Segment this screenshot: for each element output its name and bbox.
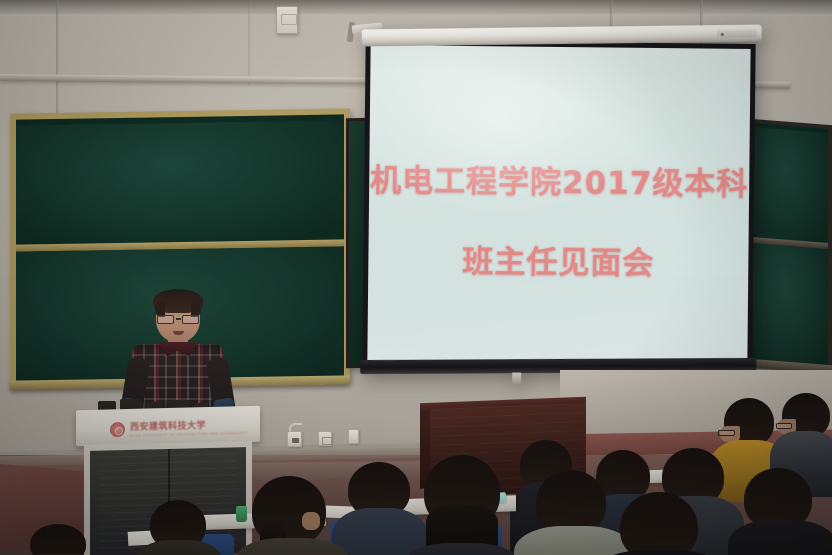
slide-title-line-1: 机电工程学院2017级本科 [369, 155, 749, 204]
student-jacket [728, 520, 832, 555]
slide-title-line-2: 班主任见面会 [368, 235, 748, 284]
glasses-bridge [176, 318, 181, 319]
student-jacket [332, 508, 428, 555]
wall-outlet[interactable] [318, 431, 332, 446]
glasses-lens [157, 315, 174, 324]
presenter-hair [153, 289, 203, 313]
green-cup[interactable] [236, 506, 247, 522]
blackboard-panel-upper [752, 127, 828, 243]
university-emblem-icon [110, 421, 125, 436]
blackboard-right [748, 119, 832, 372]
ceiling-shadow [0, 0, 832, 14]
eyeglasses-icon [157, 314, 199, 324]
wall-switch[interactable] [348, 429, 359, 444]
blackboard-panel-upper [16, 120, 344, 244]
projection-screen: 机电工程学院2017级本科 班主任见面会 [362, 26, 760, 378]
classroom-photo: 机电工程学院2017级本科 班主任见面会 [0, 0, 832, 555]
screen-glare [367, 45, 750, 365]
wall-seam [56, 0, 59, 120]
wall-sensor-box [276, 6, 298, 34]
lectern-branding: 西安建筑科技大学 XI'AN UNIVERSITY OF ARCHITECTUR… [110, 417, 220, 440]
screen-surface: 机电工程学院2017级本科 班主任见面会 [367, 45, 750, 365]
wall-outlet[interactable] [287, 431, 302, 447]
student-head [620, 492, 698, 555]
university-logo-text: 西安建筑科技大学 XI'AN UNIVERSITY OF ARCHITECTUR… [130, 417, 248, 438]
eyeglasses-icon [776, 423, 792, 429]
roller-end-cap [717, 30, 757, 38]
glasses-lens [182, 315, 199, 324]
student-face [302, 512, 320, 530]
eyeglasses-icon [718, 430, 735, 436]
screen-mount-bracket [512, 372, 521, 384]
blackboard-inner [752, 123, 828, 367]
screen-frame: 机电工程学院2017级本科 班主任见面会 [362, 40, 755, 370]
wall-seam [248, 0, 251, 86]
blackboard-panel-lower [752, 243, 828, 367]
